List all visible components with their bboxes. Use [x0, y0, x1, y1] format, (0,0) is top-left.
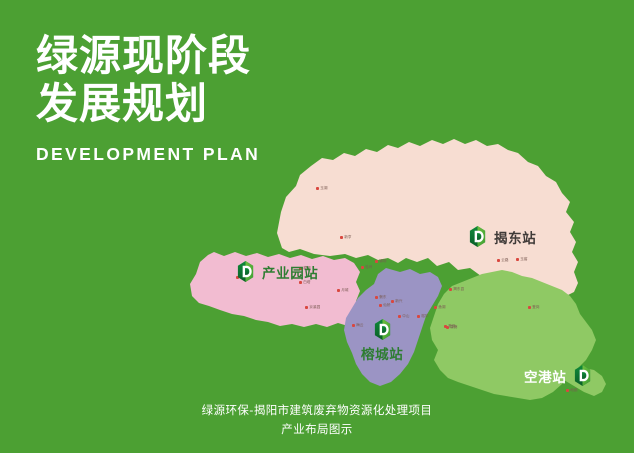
- city-dot-icon: [516, 258, 519, 261]
- lvyuan-logo-icon: [236, 260, 255, 283]
- city-name: 揭东县: [453, 287, 464, 292]
- city-label: 月城: [337, 288, 349, 293]
- lvyuan-logo-icon: [468, 225, 487, 248]
- caption-block: 绿源环保-揭阳市建筑废弃物资源化处理项目 产业布局图示: [0, 401, 634, 439]
- city-label: 地都: [566, 388, 578, 393]
- city-label: 渔湖: [434, 305, 446, 310]
- city-label: 仙桥: [379, 303, 391, 308]
- lvyuan-logo-icon: [573, 364, 592, 387]
- city-dot-icon: [497, 259, 500, 262]
- city-label: 京溪园: [305, 305, 320, 310]
- city-name: 月城: [341, 288, 348, 293]
- city-name: 地都: [570, 388, 577, 393]
- city-dot-icon: [528, 306, 531, 309]
- city-name: 榕华: [421, 314, 428, 319]
- city-label: 磐东: [375, 295, 387, 300]
- title-block: 绿源现阶段 发展规划 DEVELOPMENT PLAN: [36, 32, 260, 165]
- caption-line-1: 绿源环保-揭阳市建筑废弃物资源化处理项目: [0, 401, 634, 420]
- city-name: 登岗: [448, 324, 455, 329]
- city-dot-icon: [444, 325, 447, 328]
- city-dot-icon: [434, 306, 437, 309]
- city-name: 桂岭: [365, 265, 372, 270]
- city-dot-icon: [375, 296, 378, 299]
- station-label-rongcheng: 榕城站: [361, 343, 403, 363]
- station-label-konggang: 空港站: [524, 366, 566, 386]
- city-name: 锡场: [379, 259, 386, 264]
- city-name: 仙桥: [383, 303, 390, 308]
- city-label: 锡场: [375, 259, 387, 264]
- city-name: 京溪园: [309, 305, 320, 310]
- city-dot-icon: [305, 306, 308, 309]
- city-label: 登岗: [444, 324, 456, 329]
- city-name: 登岗: [532, 305, 539, 310]
- title-line-1: 绿源现阶段: [36, 32, 260, 80]
- caption-line-2: 产业布局图示: [0, 420, 634, 439]
- city-dot-icon: [340, 236, 343, 239]
- city-dot-icon: [361, 266, 364, 269]
- lvyuan-logo-icon: [373, 318, 392, 341]
- city-dot-icon: [375, 260, 378, 263]
- station-marker-rongcheng[interactable]: 榕城站: [361, 318, 403, 363]
- title-line-2: 发展规划: [36, 80, 260, 128]
- city-label: 玉窖: [516, 257, 528, 262]
- station-marker-jiedong[interactable]: 揭东站: [468, 225, 536, 248]
- city-dot-icon: [379, 304, 382, 307]
- city-name: 渔湖: [438, 305, 445, 310]
- city-label: 新亨: [340, 235, 352, 240]
- city-dot-icon: [337, 289, 340, 292]
- city-name: 新兴: [395, 299, 402, 304]
- station-marker-konggang[interactable]: 空港站: [524, 364, 592, 387]
- city-dot-icon: [316, 187, 319, 190]
- city-dot-icon: [417, 315, 420, 318]
- city-label: 新兴: [391, 299, 403, 304]
- city-label: 揭东县: [449, 287, 464, 292]
- station-label-jiedong: 揭东站: [494, 227, 536, 247]
- subtitle-english: DEVELOPMENT PLAN: [36, 144, 260, 165]
- city-name: 云路: [501, 258, 508, 263]
- city-dot-icon: [391, 300, 394, 303]
- city-label: 玉湖: [316, 186, 328, 191]
- city-name: 新亨: [344, 235, 351, 240]
- city-label: 榕华: [417, 314, 429, 319]
- city-label: 云路: [497, 258, 509, 263]
- station-label-chanyeyuan: 产业园站: [262, 262, 318, 282]
- city-name: 磐东: [379, 295, 386, 300]
- city-name: 玉湖: [320, 186, 327, 191]
- city-name: 玉窖: [520, 257, 527, 262]
- city-label: 桂岭: [361, 265, 373, 270]
- city-dot-icon: [449, 288, 452, 291]
- poster-canvas: 绿源现阶段 发展规划 DEVELOPMENT PLAN 揭东站 产业园站: [0, 0, 634, 453]
- city-dot-icon: [566, 389, 569, 392]
- city-dot-icon: [352, 324, 355, 327]
- station-marker-chanyeyuan[interactable]: 产业园站: [236, 260, 318, 283]
- city-label: 登岗: [528, 305, 540, 310]
